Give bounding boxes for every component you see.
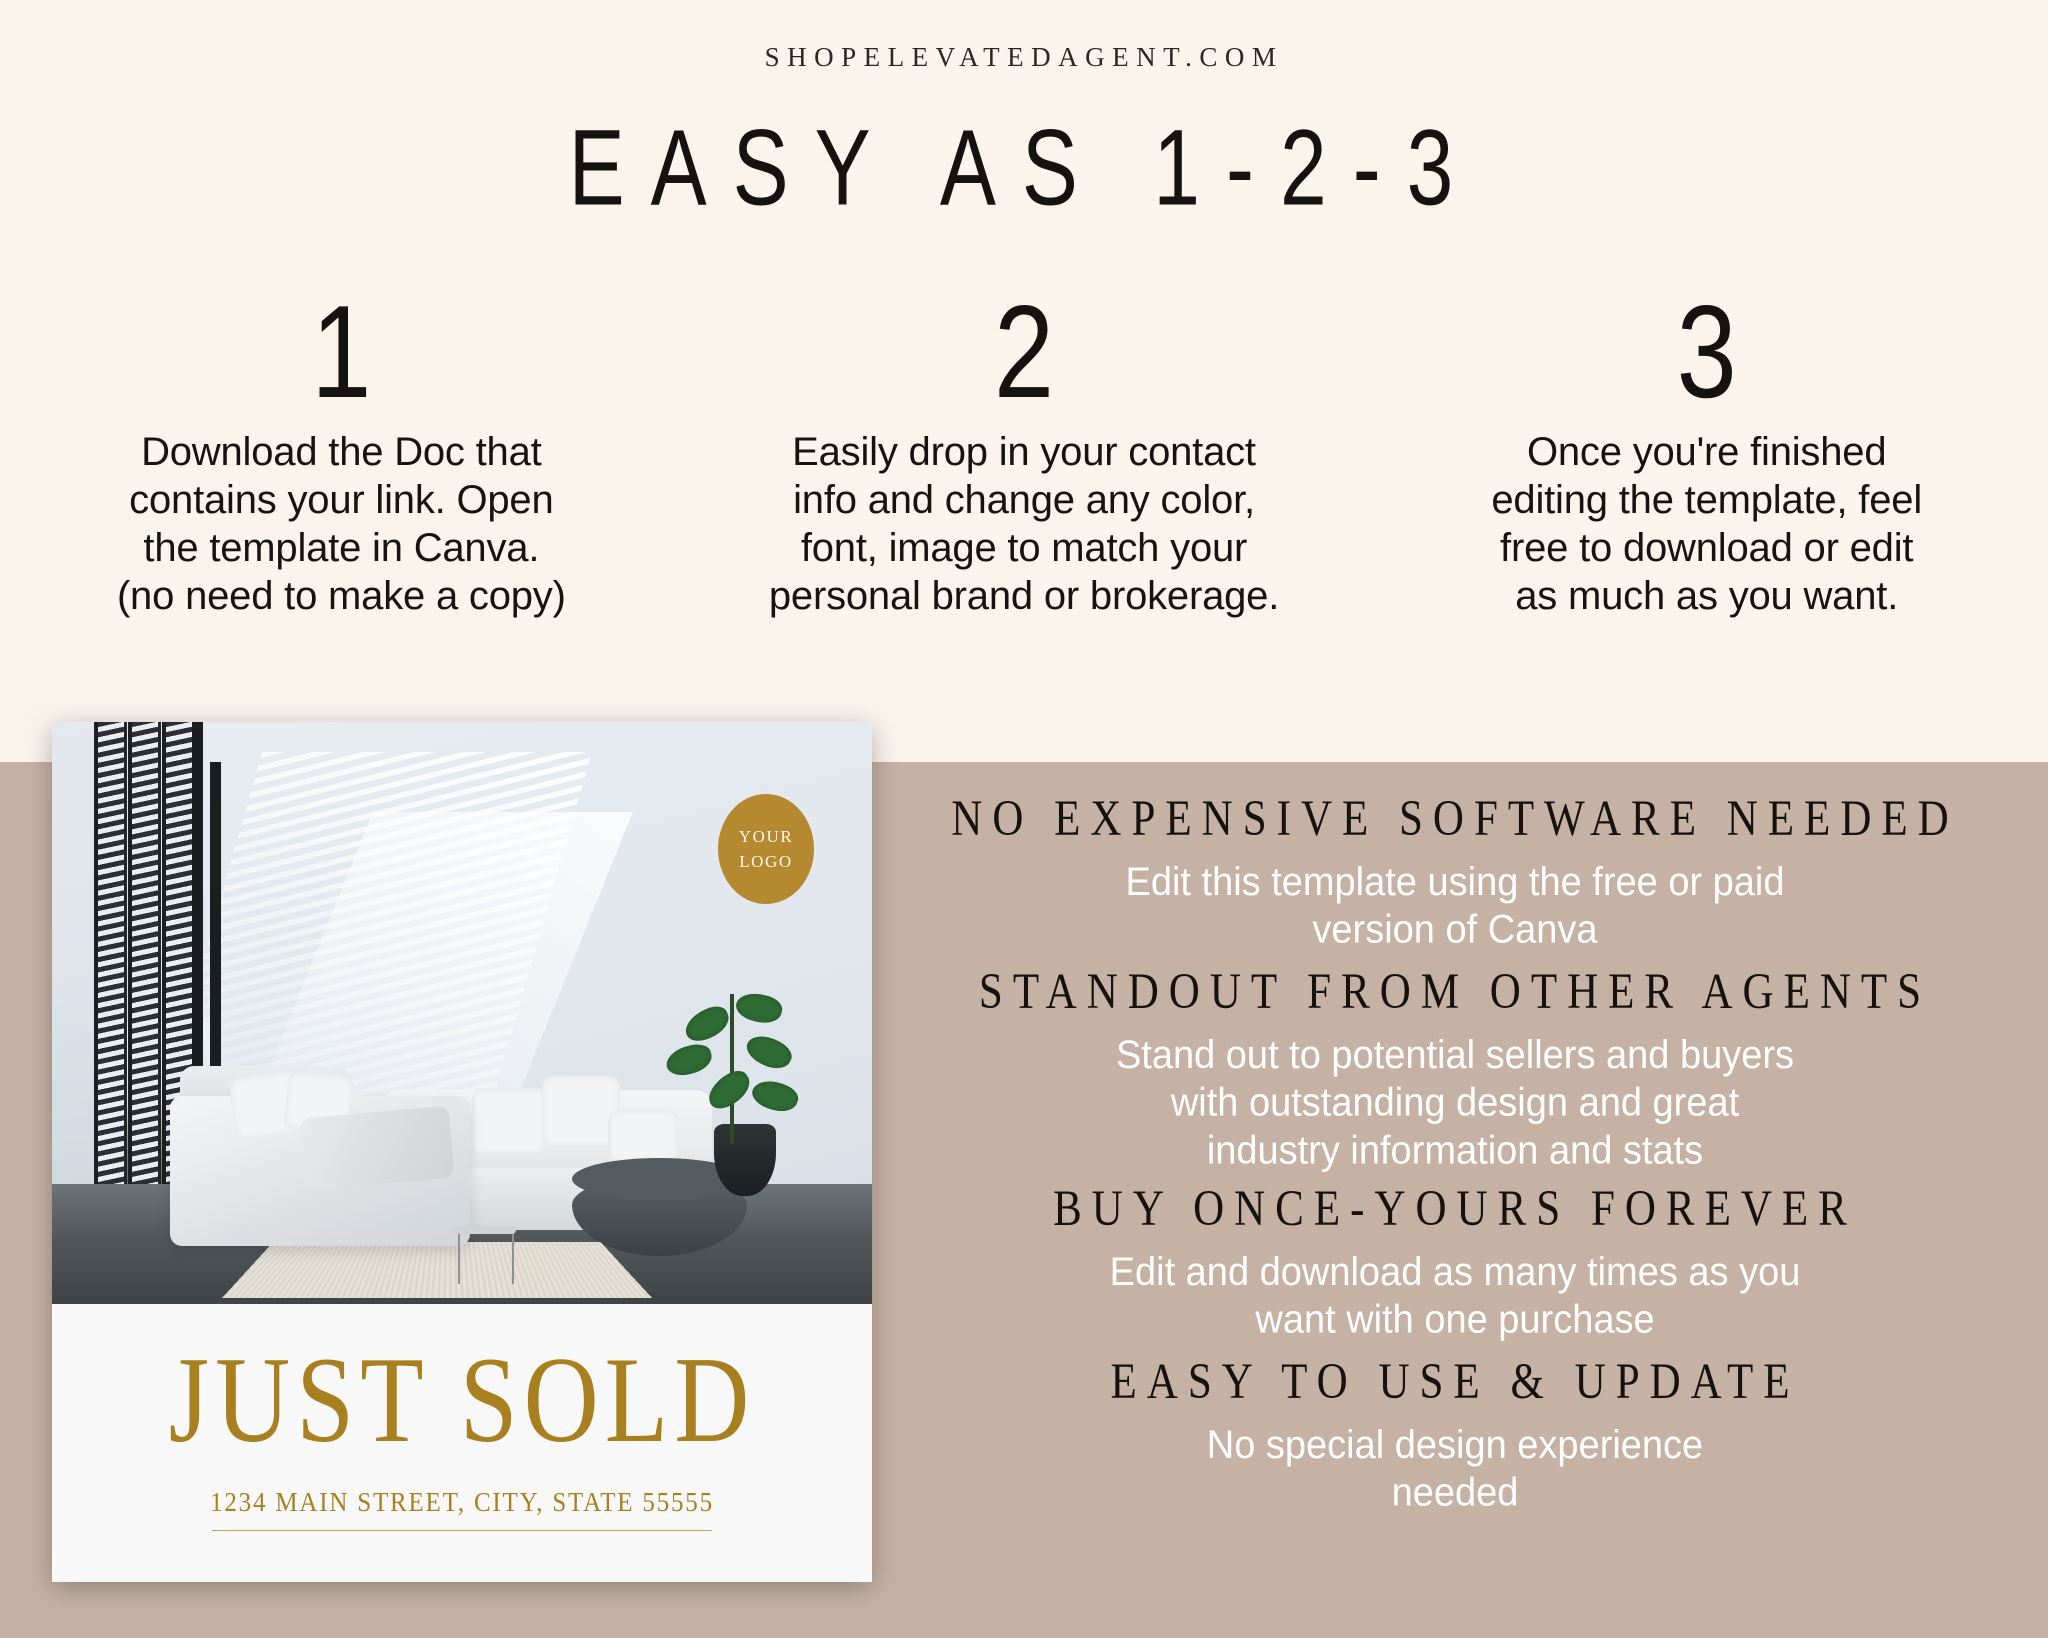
feature-title: NO EXPENSIVE SOFTWARE NEEDED (900, 790, 2010, 848)
interior-room-photo: YOUR LOGO (52, 722, 872, 1304)
side-table-top (452, 1226, 516, 1234)
just-sold-flyer-card: YOUR LOGO JUST SOLD 1234 MAIN STREET, CI… (52, 722, 872, 1582)
logo-badge-line-1: YOUR (739, 824, 794, 850)
feature-item: STANDOUT FROM OTHER AGENTS Stand out to … (900, 963, 2010, 1166)
step-description: Easily drop in your contact info and cha… (769, 428, 1279, 620)
logo-badge-line-2: LOGO (739, 849, 793, 875)
feature-item: BUY ONCE-YOURS FOREVER Edit and download… (900, 1180, 2010, 1339)
property-address: 1234 MAIN STREET, CITY, STATE 55555 (52, 1488, 872, 1519)
feature-body: Edit and download as many times as you w… (900, 1249, 2010, 1344)
feature-item: NO EXPENSIVE SOFTWARE NEEDED Edit this t… (900, 790, 2010, 949)
potted-plant (660, 984, 816, 1144)
step-1: 1 Download the Doc that contains your li… (0, 286, 683, 620)
throw-blanket (299, 1106, 455, 1191)
step-2: 2 Easily drop in your contact info and c… (683, 286, 1366, 620)
feature-body: Stand out to potential sellers and buyer… (900, 1032, 2010, 1175)
step-3: 3 Once you're finished editing the templ… (1365, 286, 2048, 620)
side-table-legs (458, 1230, 514, 1284)
feature-title: EASY TO USE & UPDATE (900, 1353, 2010, 1411)
feature-body: No special design experience needed (900, 1422, 2010, 1517)
page-title: EASY AS 1-2-3 (0, 106, 2048, 230)
flyer-caption-area: JUST SOLD 1234 MAIN STREET, CITY, STATE … (52, 1304, 872, 1582)
feature-title: STANDOUT FROM OTHER AGENTS (900, 963, 2010, 1021)
step-number: 3 (1677, 286, 1737, 418)
gold-divider-rule (212, 1530, 712, 1531)
step-number: 1 (311, 286, 371, 418)
step-description: Once you're finished editing the templat… (1491, 428, 1922, 620)
feature-item: EASY TO USE & UPDATE No special design e… (900, 1353, 2010, 1512)
your-logo-badge: YOUR LOGO (718, 794, 814, 904)
feature-title: BUY ONCE-YOURS FOREVER (900, 1180, 2010, 1238)
features-list: NO EXPENSIVE SOFTWARE NEEDED Edit this t… (900, 790, 2010, 1525)
area-rug (222, 1242, 652, 1298)
page-root: SHOPELEVATEDAGENT.COM EASY AS 1-2-3 1 Do… (0, 0, 2048, 1638)
step-description: Download the Doc that contains your link… (117, 428, 566, 620)
site-url: SHOPELEVATEDAGENT.COM (0, 42, 2048, 73)
steps-row: 1 Download the Doc that contains your li… (0, 286, 2048, 620)
just-sold-headline: JUST SOLD (52, 1330, 872, 1470)
feature-body: Edit this template using the free or pai… (900, 859, 2010, 954)
step-number: 2 (994, 286, 1054, 418)
